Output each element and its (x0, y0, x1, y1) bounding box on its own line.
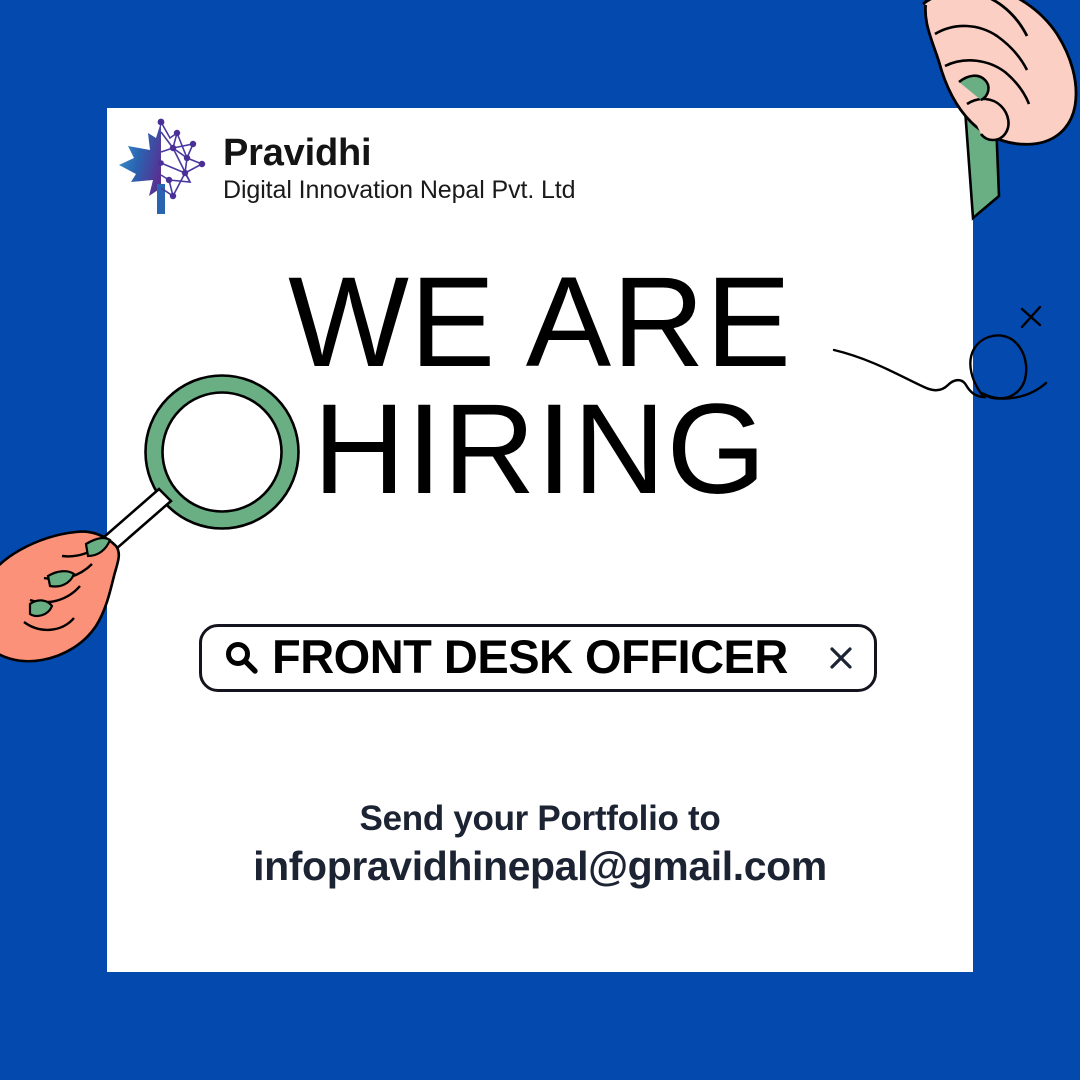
brand-text-block: Pravidhi Digital Innovation Nepal Pvt. L… (223, 134, 575, 203)
footer-email: infopravidhinepal@gmail.com (107, 841, 973, 891)
footer-contact: Send your Portfolio to infopravidhinepal… (107, 798, 973, 891)
footer-instruction: Send your Portfolio to (107, 798, 973, 841)
maple-leaf-network-logo-icon (115, 118, 207, 218)
headline: WE ARE HIRING (107, 260, 973, 513)
brand-name: Pravidhi (223, 134, 575, 172)
brand-header: Pravidhi Digital Innovation Nepal Pvt. L… (115, 118, 575, 218)
position-search-bar[interactable]: FRONT DESK OFFICER (199, 624, 877, 692)
headline-line-1: WE ARE (107, 260, 973, 387)
headline-line-2: HIRING (107, 387, 973, 514)
poster-card: Pravidhi Digital Innovation Nepal Pvt. L… (107, 108, 973, 972)
hiring-poster: Pravidhi Digital Innovation Nepal Pvt. L… (0, 0, 1080, 1080)
search-icon[interactable] (222, 639, 260, 677)
brand-tagline: Digital Innovation Nepal Pvt. Ltd (223, 178, 575, 203)
search-input-value[interactable]: FRONT DESK OFFICER (272, 633, 826, 683)
close-icon[interactable] (826, 643, 856, 673)
